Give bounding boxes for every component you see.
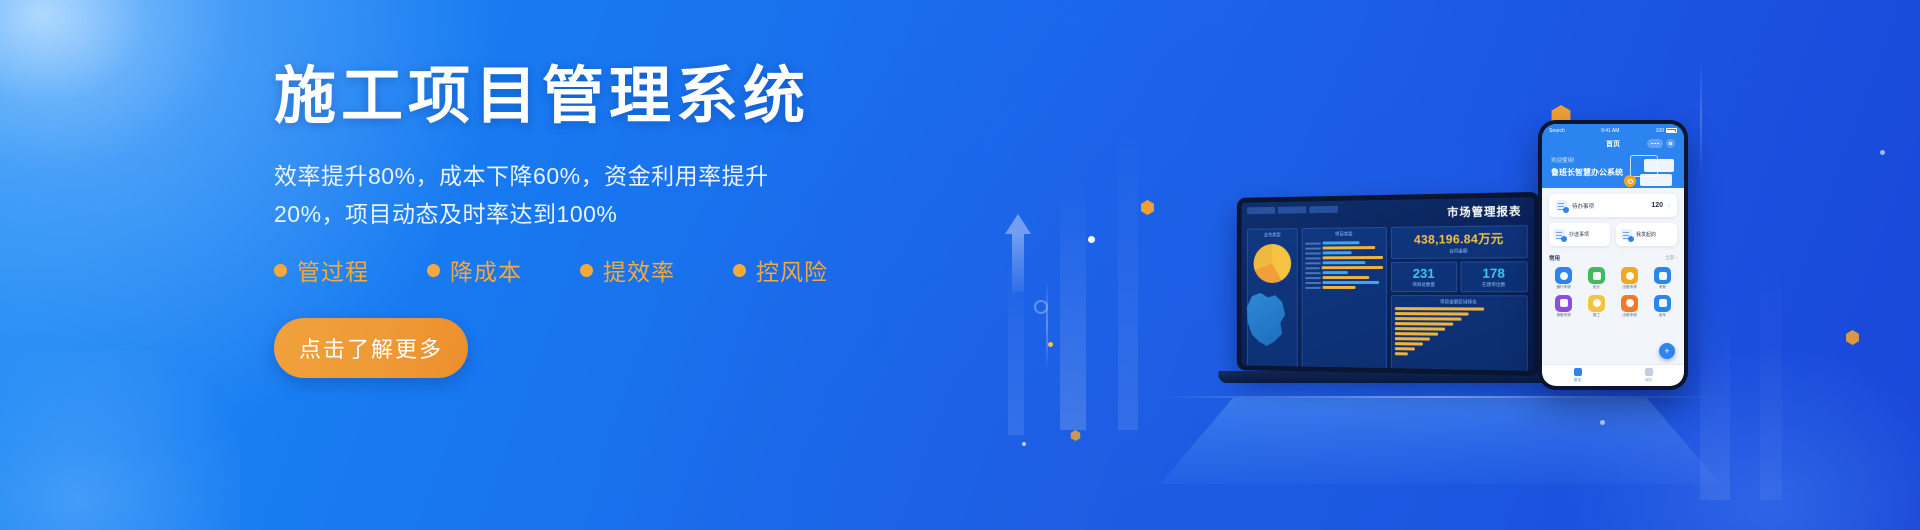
todo-card[interactable]: 待办事项 120 › [1549,194,1677,217]
todo-list-icon [1556,200,1567,211]
bar-label [1305,257,1320,259]
kpi-panel: 438,196.84万元 合同金额 231 项目总数量 178 [1391,225,1528,372]
battery-icon [1666,128,1677,133]
app-item-0[interactable]: 通行申请 [1549,267,1578,290]
bullet-dot-icon [733,264,746,277]
carrier-label: Search [1549,128,1565,134]
phone-status-bar: Search 9:41 AM 100 [1542,124,1684,137]
bar [1323,261,1366,264]
rank-bar [1395,337,1430,340]
bar-label [1305,247,1320,249]
header-illustration [1626,153,1678,187]
app-label: 用车 [1659,314,1666,318]
app-label: 出差申请 [1622,286,1636,290]
bar-label [1305,267,1319,269]
arrow-up-icon-1 [1005,214,1031,292]
user-icon [1645,368,1653,376]
worker-icon [1588,295,1605,312]
battery-percent: 100 [1656,128,1664,134]
hero-content: 施工项目管理系统 效率提升80%，成本下降60%，资金利用率提升 20%，项目动… [274,60,894,378]
bar-row [1305,246,1383,250]
dashboard-header: 市场管理报表 [1247,202,1528,223]
bar-label [1305,272,1320,274]
more-menu-icon[interactable] [1647,139,1663,148]
close-circle-icon[interactable] [1666,139,1675,148]
laptop-mockup: 市场管理报表 业务类型 项目类型 [1230,195,1570,395]
ring-decor-1 [1034,300,1048,314]
illustration-card-filled-2 [1640,174,1672,186]
app-item-1[interactable]: 统计 [1582,267,1611,290]
phone-body: 待办事项 120 › 抄送事项 我发起的 [1542,188,1684,364]
kpi-value: 438,196.84万元 [1394,229,1525,248]
bar [1323,241,1360,244]
todo-count: 120 [1651,202,1663,209]
pie-panel: 业务类型 [1247,228,1298,367]
app-label: 统计 [1593,286,1600,290]
app-label: 通行申请 [1556,286,1570,290]
kpi-project-count: 231 项目总数量 [1391,262,1457,293]
rank-bar [1395,327,1446,331]
bar-label [1305,277,1320,279]
dashboard: 市场管理报表 业务类型 项目类型 [1242,197,1535,371]
bar [1323,256,1383,259]
bar-panel-title: 项目类型 [1305,231,1383,238]
plus-doc-icon [1621,229,1632,240]
decor-vertical-bar-2 [1118,130,1138,430]
bar [1321,266,1383,269]
dot-icon-3 [1022,442,1026,446]
rank-bar [1395,342,1423,345]
bar-row [1305,271,1383,274]
app-label: 请假申请 [1556,314,1570,318]
tab-home[interactable]: 首页 [1542,368,1613,383]
phone-screen: Search 9:41 AM 100 首页 欢迎 [1542,124,1684,386]
bar-row [1305,256,1383,259]
quick-actions: 抄送事项 我发起的 [1549,223,1677,246]
feature-item-2: 提效率 [580,253,675,287]
laptop-screen: 市场管理报表 业务类型 项目类型 [1237,192,1540,376]
podium-platform [1160,398,1720,484]
bullet-dot-icon [274,264,287,277]
bar [1323,286,1356,289]
chevron-right-icon: › [1668,203,1670,209]
pie-chart [1254,244,1292,283]
vehicle-icon [1654,295,1671,312]
decor-vertical-bar-3 [1008,250,1024,435]
common-section-header: 常用 全部 › [1549,254,1677,262]
app-label: 考勤 [1659,286,1666,290]
bar-row [1305,261,1383,264]
feature-item-0: 管过程 [274,253,369,287]
phone-nav-title: 首页 [1606,139,1620,149]
kpi-row: 231 项目总数量 178 在建单位数 [1391,261,1528,292]
glow-top-left [0,0,240,180]
send-icon [1554,229,1565,240]
feature-label: 降成本 [450,253,522,287]
home-icon [1574,368,1582,376]
quick-action-initiated[interactable]: 我发起的 [1616,223,1677,246]
phone-nav-row: 首页 [1551,137,1675,151]
bullet-dot-icon [427,264,440,277]
bar [1323,246,1376,249]
feature-item-3: 控风险 [733,253,828,287]
bar-label [1305,286,1320,288]
phone-mockup: Search 9:41 AM 100 首页 欢迎 [1538,120,1688,390]
hero-subtitle: 效率提升80%，成本下降60%，资金利用率提升 20%，项目动态及时率达到100… [274,157,794,233]
clock-badge-icon [1624,175,1636,187]
app-item-7[interactable]: 用车 [1648,295,1677,318]
rank-bar [1395,317,1461,321]
quick-action-label: 抄送事项 [1569,231,1589,238]
add-floating-button[interactable]: + [1659,343,1675,359]
clock-icon [1555,267,1572,284]
decor-vertical-bar-1 [1060,180,1086,430]
feature-item-1: 降成本 [427,253,522,287]
feature-label: 控风险 [756,253,828,287]
hero-subtitle-line-1: 效率提升80%，成本下降60%，资金利用率提升 [274,157,794,195]
podium-edge-line [1160,396,1720,398]
kpi-label: 项目总数量 [1393,282,1455,288]
app-item-5[interactable]: 报工 [1582,295,1611,318]
bar [1323,251,1352,254]
hero-subtitle-line-2: 20%，项目动态及时率达到100% [274,195,794,233]
bullet-dot-icon [580,264,593,277]
glow-bottom-left [0,350,240,530]
bar-row [1305,281,1383,284]
feature-list: 管过程 降成本 提效率 控风险 [274,253,894,287]
quick-action-cc[interactable]: 抄送事项 [1549,223,1610,246]
pie-panel-title: 业务类型 [1251,232,1294,238]
app-label: 报工 [1593,314,1600,318]
document-icon [1555,295,1572,312]
phone-nav-actions [1647,139,1675,148]
kpi-value: 231 [1393,266,1455,281]
rank-panel: 项目金额区域排名 [1391,295,1528,372]
app-grid: 通行申请 统计 出差申请 考勤 [1549,267,1677,317]
dot-icon-1 [1088,236,1095,243]
dashboard-tab-marker[interactable] [1278,206,1306,213]
dashboard-tab-marker[interactable] [1247,207,1275,214]
quick-action-label: 我发起的 [1636,231,1656,238]
device-mockups: 市场管理报表 业务类型 项目类型 [1140,0,1920,530]
hexagon-icon-4 [1070,430,1081,441]
app-item-2[interactable]: 出差申请 [1615,267,1644,290]
illustration-card-filled-1 [1644,159,1674,172]
bar-row [1305,241,1383,245]
app-item-6[interactable]: 出差申请 [1615,295,1644,318]
tab-label: 我的 [1645,378,1652,383]
app-item-4[interactable]: 请假申请 [1549,295,1578,318]
bar-row [1305,251,1383,255]
kpi-value: 178 [1462,265,1526,281]
dashboard-tab-marker[interactable] [1309,206,1338,213]
kpi-contract-amount: 438,196.84万元 合同金额 [1391,225,1528,259]
todo-label: 待办事项 [1572,202,1646,210]
bar-row [1305,286,1383,289]
rank-bar [1395,307,1484,311]
section-more-link[interactable]: 全部 › [1665,255,1677,261]
bar-panel: 项目类型 [1302,227,1387,369]
learn-more-button[interactable]: 点击了解更多 [274,318,468,378]
bar-row [1305,276,1383,279]
status-time: 9:41 AM [1601,128,1619,134]
page-title: 施工项目管理系统 [274,60,894,133]
region-map [1244,292,1287,349]
app-label: 出差申请 [1622,314,1636,318]
promo-banner: 施工项目管理系统 效率提升80%，成本下降60%，资金利用率提升 20%，项目动… [0,0,1920,530]
tab-label: 首页 [1574,378,1581,383]
rank-bar [1395,347,1415,350]
bar [1323,276,1370,279]
tab-profile[interactable]: 我的 [1613,368,1684,383]
bar [1323,271,1348,274]
dashboard-body: 业务类型 项目类型 [1247,225,1528,372]
rank-bar-chart [1395,307,1524,357]
rank-bar [1395,312,1469,316]
bar-row [1305,266,1383,269]
bar [1323,281,1379,284]
chart-icon [1588,267,1605,284]
light-streak-1 [1046,280,1048,370]
bar-label [1305,282,1320,284]
app-item-3[interactable]: 考勤 [1648,267,1677,290]
dashboard-tabs [1247,206,1338,214]
bar-label [1305,252,1320,254]
attendance-icon [1654,267,1671,284]
kpi-unit-count: 178 在建单位数 [1460,261,1528,292]
person-icon [1621,295,1638,312]
bar-label [1305,242,1320,244]
section-title: 常用 [1549,254,1560,262]
rank-panel-title: 项目金额区域排名 [1395,299,1524,306]
phone-header: 首页 欢迎使用! 鲁班长智慧办公系统 [1542,137,1684,188]
bar-chart [1305,239,1383,289]
kpi-label: 在建单位数 [1462,282,1526,288]
feature-label: 管过程 [297,253,369,287]
rank-bar [1395,322,1453,326]
dot-icon-2 [1048,342,1053,347]
bar-label [1305,262,1320,264]
car-icon [1621,267,1638,284]
rank-bar [1395,352,1408,355]
dashboard-title: 市场管理报表 [1447,203,1521,221]
map-shape-icon [1244,292,1287,349]
phone-tab-bar: 首页 我的 [1542,364,1684,386]
kpi-label: 合同金额 [1394,248,1525,255]
rank-bar [1395,332,1438,336]
feature-label: 提效率 [603,253,675,287]
